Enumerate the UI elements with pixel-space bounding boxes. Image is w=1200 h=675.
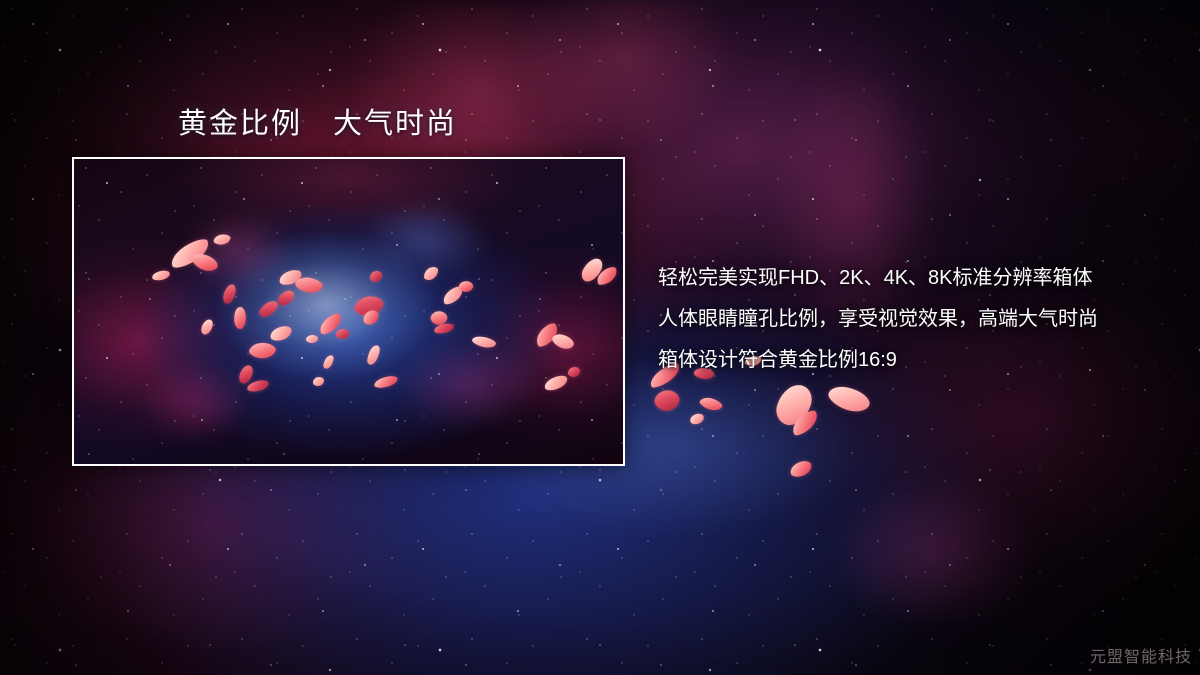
body-line-2: 人体眼睛瞳孔比例，享受视觉效果，高端大气时尚 — [658, 299, 1178, 340]
body-line-3: 箱体设计符合黄金比例16:9 — [658, 340, 1178, 381]
slide-canvas: 黄金比例 大气时尚 轻松完美实现FHD、2K、4K、8K标准分辨率箱体 人体眼睛… — [0, 0, 1200, 675]
petal-shape-icon — [698, 393, 723, 414]
body-copy-block: 轻松完美实现FHD、2K、4K、8K标准分辨率箱体 人体眼睛瞳孔比例，享受视觉效… — [658, 258, 1178, 381]
framed-image-panel — [72, 157, 625, 466]
body-line-1: 轻松完美实现FHD、2K、4K、8K标准分辨率箱体 — [658, 258, 1178, 299]
watermark-text: 元盟智能科技 — [1090, 643, 1192, 667]
petal-shape-icon — [825, 380, 872, 417]
petal-shape-icon — [689, 413, 705, 425]
panel-cloud-layer — [74, 159, 623, 464]
petal-shape-icon — [652, 387, 681, 414]
petal-shape-icon — [788, 459, 813, 479]
slide-title: 黄金比例 大气时尚 — [178, 100, 457, 142]
